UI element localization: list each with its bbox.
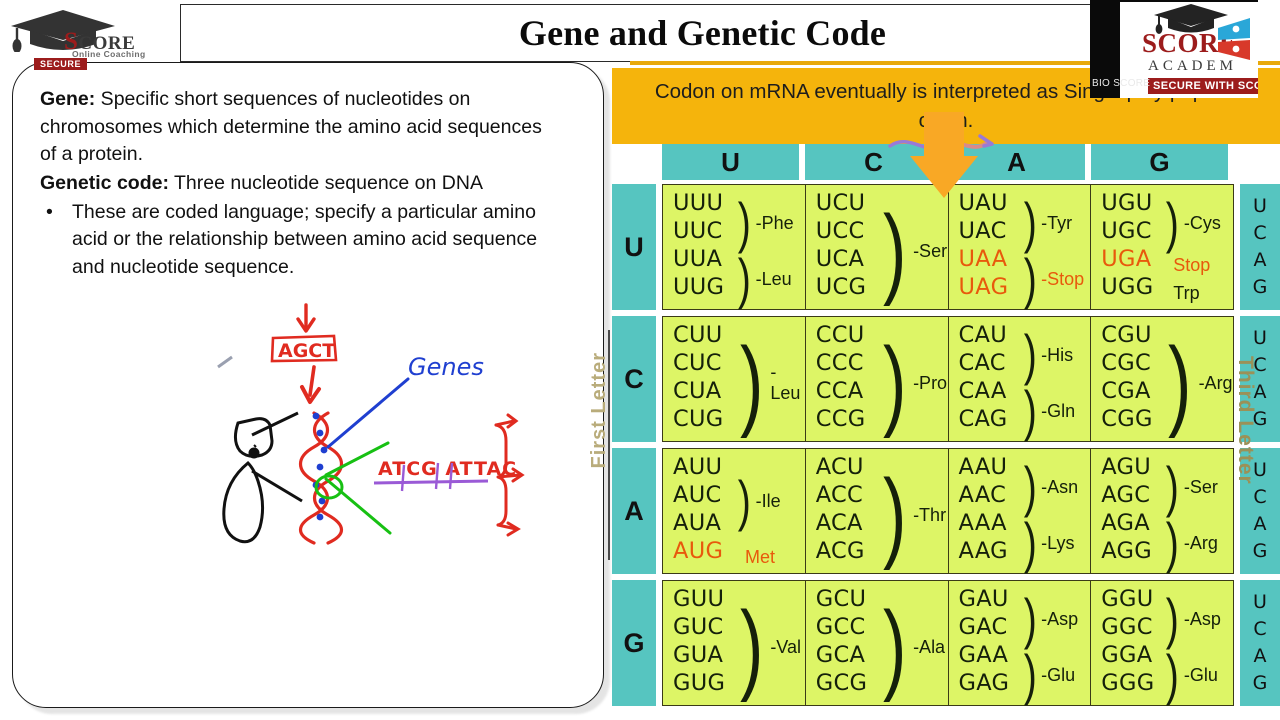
red-arrow-top-icon <box>298 305 314 331</box>
codon-row-c: CCUUCUCCUACUG)-LeuCCUCCCCCACCG)-ProCAUCA… <box>612 316 1280 442</box>
codon-col-header-u: U <box>662 144 799 180</box>
codon-cell-a-a: AAUAACAAAAAG)-Asn)-Lys <box>949 449 1092 573</box>
brace-icon: ) <box>1166 591 1179 647</box>
left-panel-text: Gene: Specific short sequences of nucleo… <box>40 86 560 282</box>
codon-group-ala: )-Ala <box>878 591 945 703</box>
codon-group-asp: )-Asp <box>1021 591 1079 647</box>
codon-group-pro: )-Pro <box>878 327 947 439</box>
codon-row-cells: AUUAUCAUAAUG)-IleMetACUACCACAACG)-ThrAAU… <box>662 448 1234 574</box>
third-letter-c: C <box>1253 220 1266 247</box>
brace-icon: ) <box>883 597 906 697</box>
brace-icon: ) <box>1023 459 1036 515</box>
amino-acid-label-met: Met <box>745 547 775 568</box>
gene-text: Specific short sequences of nucleotides … <box>40 88 542 165</box>
amino-acid-label-glu: -Glu <box>1184 665 1218 686</box>
brace-icon: ) <box>1166 195 1179 251</box>
bullet-item-text: These are coded language; specify a part… <box>72 199 560 282</box>
genetic-code-definition: Genetic code: Three nucleotide sequence … <box>40 170 560 198</box>
codon-cell-c-u: CUUCUCCUACUG)-Leu <box>663 317 806 441</box>
codon-group-his: )-His <box>1021 327 1074 383</box>
amino-acid-label-phe: -Phe <box>756 213 794 234</box>
codon-group-met: Met <box>735 543 775 571</box>
codon-cell-u-u: UUUUUCUUAUUG)-Phe)-Leu <box>663 185 806 309</box>
codon-row-label-c: C <box>612 316 656 442</box>
codon-cell-g-a: GAUGACGAAGAG)-Asp)-Glu <box>949 581 1092 705</box>
codon-row-a: AAUUAUCAUAAUG)-IleMetACUACCACAACG)-ThrAA… <box>612 448 1280 574</box>
brace-icon: ) <box>1023 591 1036 647</box>
codon-group-ile: )-Ile <box>735 459 781 543</box>
codon-group-stop: )-Stop <box>1021 251 1085 307</box>
logo-tiles-icon <box>1216 16 1258 64</box>
codon-row-label-g: G <box>612 580 656 706</box>
amino-acid-label-gln: -Gln <box>1041 401 1075 422</box>
codon-row-label-a: A <box>612 448 656 574</box>
brace-icon: ) <box>883 333 906 433</box>
orange-down-arrow-icon <box>910 112 978 198</box>
codon-cell-a-c: ACUACCACAACG)-Thr <box>806 449 949 573</box>
brace-icon: ) <box>738 473 751 529</box>
handdrawn-sketch: AGCT Gen <box>210 295 550 555</box>
agct-box: AGCT <box>272 336 336 362</box>
brace-icon: ) <box>1023 515 1036 571</box>
gene-label: Gene: <box>40 88 95 110</box>
first-letter-label: First Letter <box>588 352 611 468</box>
third-letter-label: Third Letter <box>1233 356 1257 485</box>
score-logo-badge: SECURE <box>34 58 87 70</box>
agct-box-text: AGCT <box>278 340 335 362</box>
codon-cell-a-g: AGUAGCAGAAGG)-Ser)-Arg <box>1091 449 1233 573</box>
chromosome-sketch <box>224 413 302 542</box>
brace-icon: ) <box>1166 647 1179 703</box>
codon-group-glu: )-Glu <box>1021 647 1076 703</box>
codon-cell-u-g: UGUUGCUGAUGG)-CysStopTrp <box>1091 185 1233 309</box>
brace-icon: ) <box>1023 647 1036 703</box>
codon-group-asp: )-Asp <box>1163 591 1221 647</box>
sequence-annotation: ATCG ATTAC <box>374 458 517 491</box>
amino-acid-label-cys: -Cys <box>1184 213 1221 234</box>
codon-cell-c-g: CGUCGCCGACGG)-Arg <box>1091 317 1233 441</box>
third-letter-g: G <box>1253 538 1268 565</box>
bullet-item: • These are coded language; specify a pa… <box>40 199 560 282</box>
codon-group-asn: )-Asn <box>1021 459 1079 515</box>
codon-table-body: UUUUUUCUUAUUG)-Phe)-LeuUCUUCCUCAUCG)-Ser… <box>612 184 1280 712</box>
green-pointer-sketch <box>316 443 390 533</box>
genes-label-text: Genes <box>408 353 484 381</box>
amino-acid-label-lys: -Lys <box>1041 533 1074 554</box>
codon-cell-a-u: AUUAUCAUAAUG)-IleMet <box>663 449 806 573</box>
codon-group-glu: )-Glu <box>1163 647 1218 703</box>
amino-acid-label-glu: -Glu <box>1041 665 1075 686</box>
amino-acid-label-pro: -Pro <box>913 373 947 394</box>
third-letter-u: U <box>1253 325 1267 352</box>
brace-icon: ) <box>1168 333 1191 433</box>
codon-cell-g-g: GGUGGCGGAGGG)-Asp)-Glu <box>1091 581 1233 705</box>
codon-group-leu: )-Leu <box>735 327 805 439</box>
gene-definition: Gene: Specific short sequences of nucleo… <box>40 86 560 169</box>
amino-acid-label-val: -Val <box>770 637 801 658</box>
codon-group-trp: Trp <box>1163 279 1199 307</box>
brace-icon: ) <box>1023 383 1036 439</box>
amino-acid-label-asp: -Asp <box>1184 609 1221 630</box>
third-letter-g: G <box>1253 670 1268 697</box>
sequence-label-text: ATCG ATTAC <box>378 458 517 480</box>
codon-row-g: GGUUGUCGUAGUG)-ValGCUGCCGCAGCG)-AlaGAUGA… <box>612 580 1280 706</box>
bullet-dot-icon: • <box>40 199 72 282</box>
codon-cell-c-a: CAUCACCAACAG)-His)-Gln <box>949 317 1092 441</box>
codon-cell-g-c: GCUGCCGCAGCG)-Ala <box>806 581 949 705</box>
page-title: Gene and Genetic Code <box>180 4 1225 62</box>
amino-acid-label-leu: -Leu <box>770 362 804 404</box>
brace-icon: ) <box>1023 251 1036 307</box>
third-letter-g: G <box>1253 274 1268 301</box>
codon-group-stop: Stop <box>1163 251 1210 279</box>
third-letter-u: U <box>1253 193 1267 220</box>
codon-group-thr: )-Thr <box>878 459 946 571</box>
genetic-code-text: Three nucleotide sequence on DNA <box>169 172 483 194</box>
brace-icon: ) <box>738 195 751 251</box>
amino-acid-label-leu: -Leu <box>756 269 792 290</box>
codon-group-cys: )-Cys <box>1163 195 1221 251</box>
pencil-mark-icon <box>218 357 232 367</box>
third-letter-a: A <box>1254 643 1267 670</box>
score-logo: SCORE Online Coaching SECURE <box>6 6 178 68</box>
codon-group-phe: )-Phe <box>735 195 794 251</box>
brace-icon: ) <box>740 597 763 697</box>
codon-group-arg: )-Arg <box>1163 515 1218 571</box>
amino-acid-label-tyr: -Tyr <box>1041 213 1072 234</box>
amino-acid-label-ala: -Ala <box>913 637 945 658</box>
codon-cell-c-c: CCUCCCCCACCG)-Pro <box>806 317 949 441</box>
amino-acid-label-asn: -Asn <box>1041 477 1078 498</box>
third-letter-column-u: UCAG <box>1240 184 1280 310</box>
brace-icon: ) <box>883 465 906 565</box>
codon-row-cells: GUUGUCGUAGUG)-ValGCUGCCGCAGCG)-AlaGAUGAC… <box>662 580 1234 706</box>
brace-icon: ) <box>1166 459 1179 515</box>
amino-acid-label-stop: -Stop <box>1041 269 1084 290</box>
amino-acid-label-arg: -Arg <box>1199 373 1233 394</box>
brace-icon: ) <box>883 201 906 301</box>
amino-acid-label-ile: -Ile <box>756 491 781 512</box>
overlay-logo-strip: SECURE WITH SCOR <box>1148 78 1258 94</box>
codon-row-cells: CUUCUCCUACUG)-LeuCCUCCCCCACCG)-ProCAUCAC… <box>662 316 1234 442</box>
third-letter-c: C <box>1253 484 1266 511</box>
genes-annotation: Genes <box>328 353 484 447</box>
third-letter-a: A <box>1254 511 1267 538</box>
brace-icon: ) <box>738 251 751 307</box>
pointer-arrows-layer <box>880 112 1040 212</box>
amino-acid-label-trp: Trp <box>1173 283 1199 304</box>
codon-group-lys: )-Lys <box>1021 515 1075 571</box>
slide-canvas: Gene and Genetic Code SCORE Online Coach… <box>0 0 1280 720</box>
codon-group-leu: )-Leu <box>735 251 792 307</box>
red-arrow-bottom-icon <box>302 367 319 402</box>
codon-group-arg: )-Arg <box>1163 327 1232 439</box>
amino-acid-label-thr: -Thr <box>913 505 946 526</box>
red-brace-sketch <box>496 415 522 535</box>
brace-icon: ) <box>1166 515 1179 571</box>
amino-acid-label-ser: -Ser <box>1184 477 1218 498</box>
genetic-code-label: Genetic code: <box>40 172 169 194</box>
amino-acid-label-stop: Stop <box>1173 255 1210 276</box>
amino-acid-label-arg: -Arg <box>1184 533 1218 554</box>
amino-acid-label-asp: -Asp <box>1041 609 1078 630</box>
overlay-logo-watermark: BIO SCORE <box>1092 78 1150 89</box>
codon-group-ser: )-Ser <box>1163 459 1218 515</box>
codon-col-header-g: G <box>1091 144 1228 180</box>
codon-cell-g-u: GUUGUCGUAGUG)-Val <box>663 581 806 705</box>
amino-acid-label-his: -His <box>1041 345 1073 366</box>
third-letter-a: A <box>1254 247 1267 274</box>
codon-group-val: )-Val <box>735 591 801 703</box>
overlay-academy-logo: SCORE ACADEM SECURE WITH SCOR BIO SCORE <box>1090 0 1258 98</box>
brace-icon: ) <box>740 333 763 433</box>
third-letter-c: C <box>1253 616 1266 643</box>
third-letter-column-g: UCAG <box>1240 580 1280 706</box>
amino-acid-label-ser: -Ser <box>913 241 947 262</box>
brace-icon: ) <box>1023 327 1036 383</box>
codon-row-label-u: U <box>612 184 656 310</box>
codon-group-gln: )-Gln <box>1021 383 1076 439</box>
codon-table: UCAG UUUUUUCUUAUUG)-Phe)-LeuUCUUCCUCAUCG… <box>612 144 1280 706</box>
third-letter-u: U <box>1253 589 1267 616</box>
